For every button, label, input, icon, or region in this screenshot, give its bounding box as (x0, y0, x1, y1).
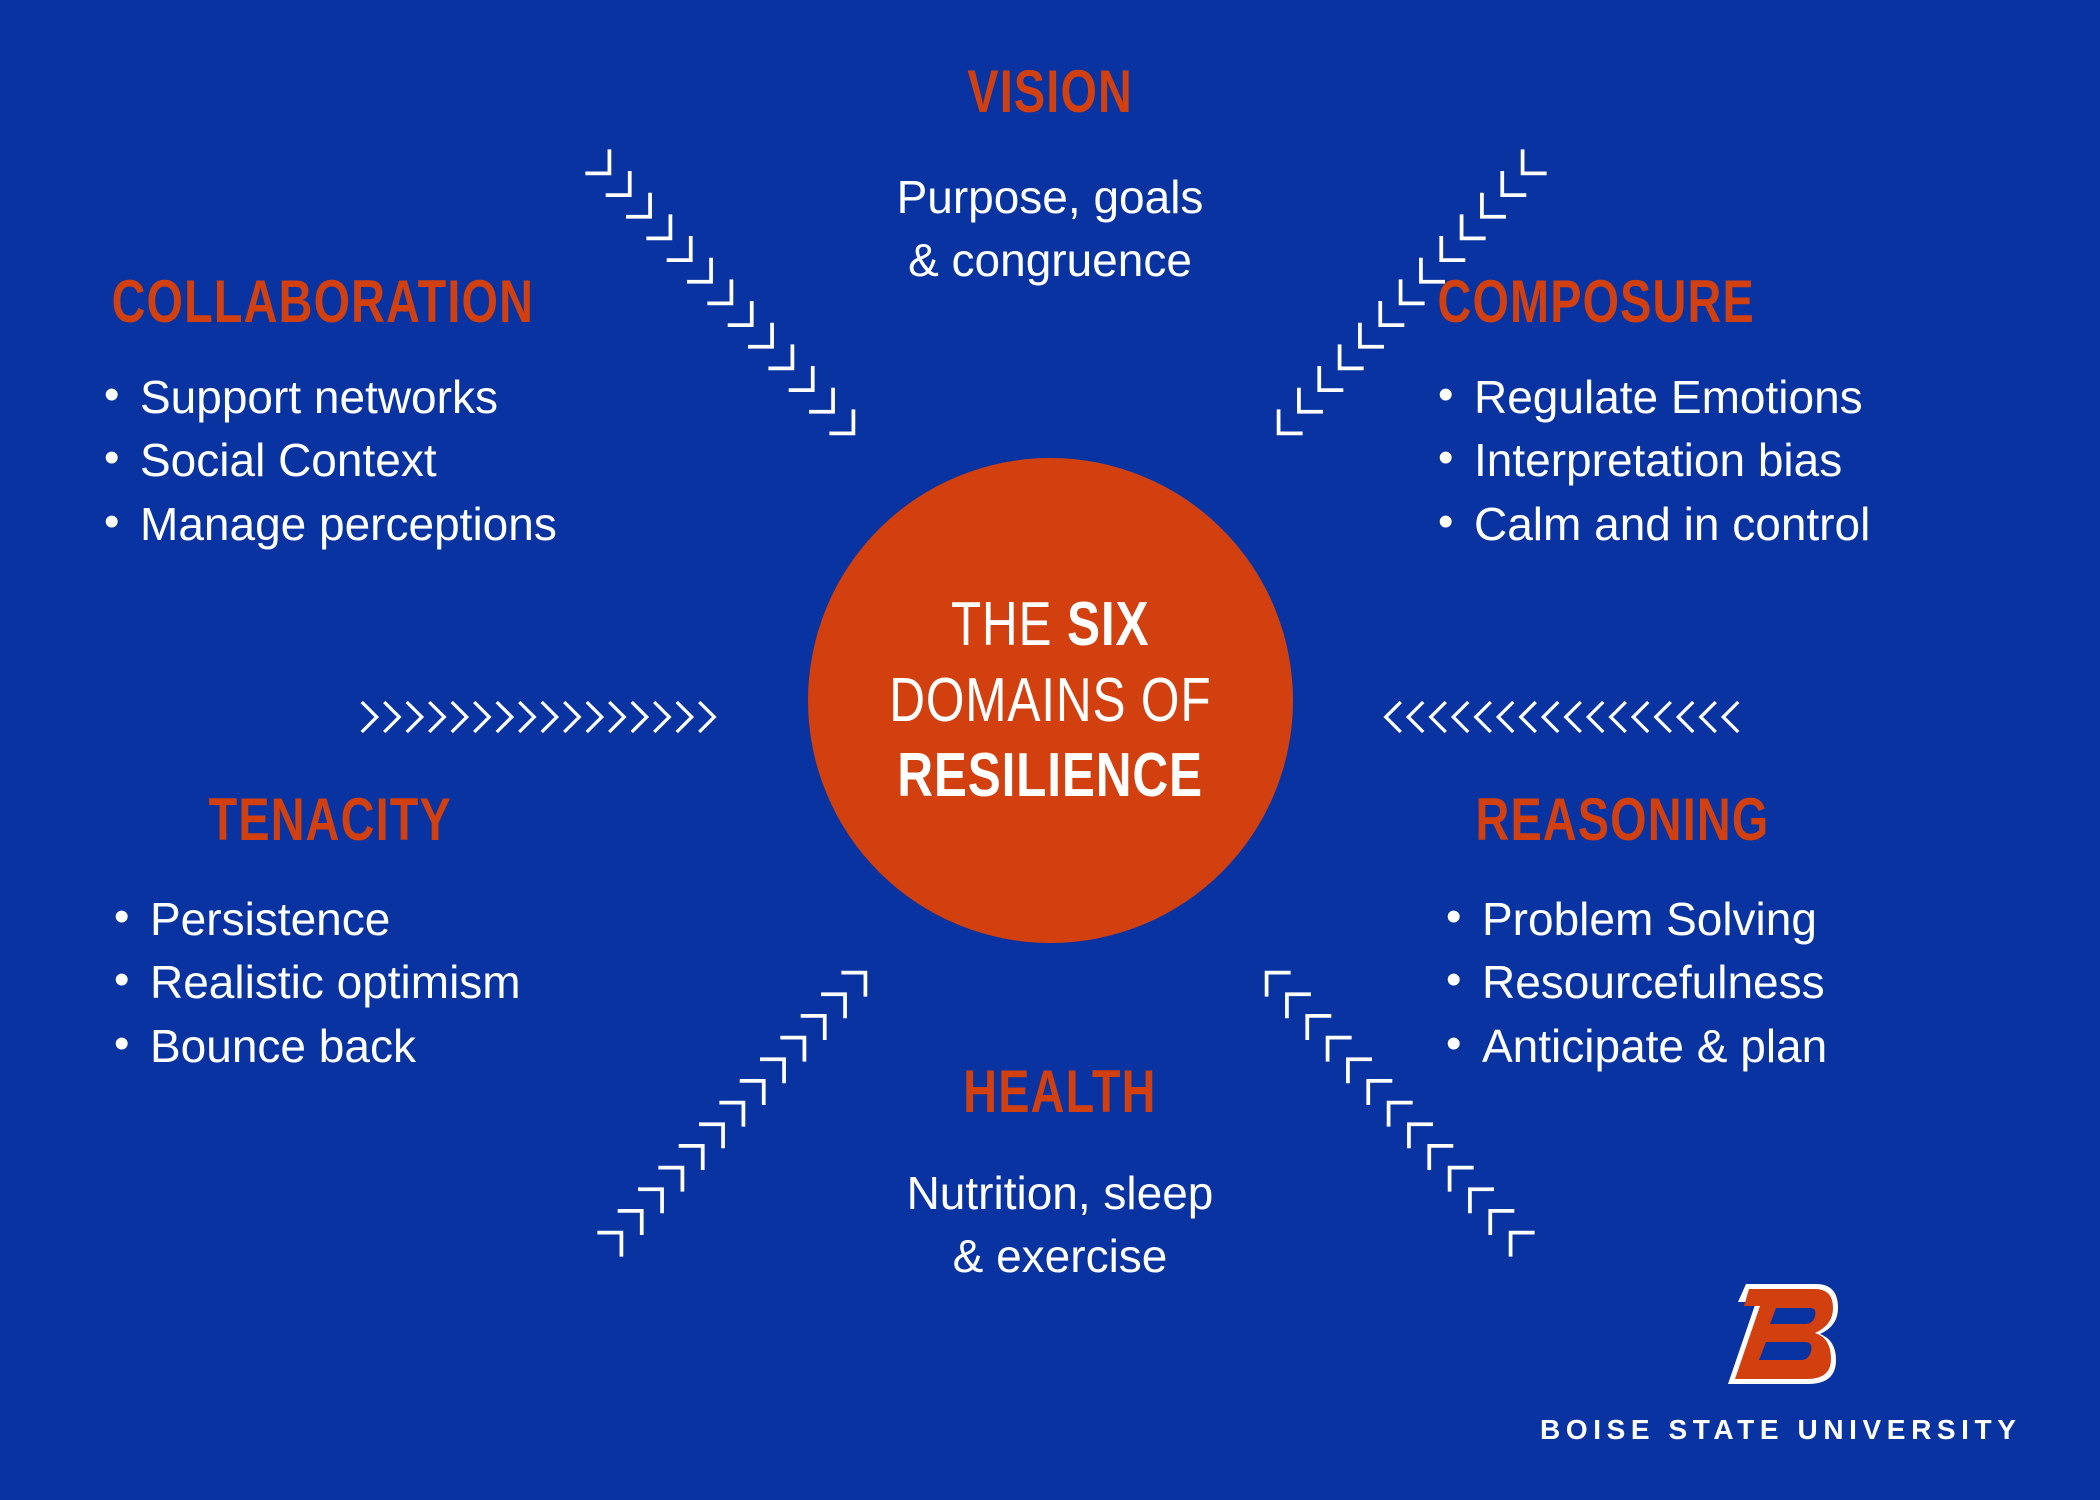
domain-block-collaboration: COLLABORATION Support networks Social Co… (98, 272, 594, 556)
center-line-2: DOMAINS OF (889, 663, 1211, 739)
list-item: Bounce back (108, 1015, 521, 1078)
chevron-trail-top-right-icon (1256, 148, 1546, 448)
chevron-trail-top-left-icon (586, 148, 876, 448)
chevron-trail-right-icon (1382, 682, 1742, 752)
list-item: Calm and in control (1432, 493, 1870, 556)
center-line-1-bold: SIX (1067, 590, 1149, 659)
boise-state-logo: BOISE STATE UNIVERSITY (1540, 1280, 2020, 1446)
center-line-1-prefix: THE (951, 590, 1067, 659)
domain-title-reasoning: REASONING (1475, 790, 1783, 850)
domain-title-health: HEALTH (963, 1062, 1156, 1122)
logo-wordmark: BOISE STATE UNIVERSITY (1540, 1414, 2020, 1446)
domain-bullets-tenacity: Persistence Realistic optimism Bounce ba… (108, 888, 521, 1078)
list-item: Social Context (98, 429, 594, 492)
domain-title-tenacity: TENACITY (209, 790, 482, 850)
list-item: Realistic optimism (108, 951, 521, 1014)
center-line-1: THE SIX (951, 587, 1150, 663)
list-item: Support networks (98, 366, 594, 429)
domain-block-tenacity: TENACITY Persistence Realistic optimism … (108, 790, 521, 1078)
list-item: Manage perceptions (98, 493, 594, 556)
center-line-3: RESILIENCE (898, 738, 1204, 814)
infographic-poster: THE SIX DOMAINS OF RESILIENCE VISION Pur… (0, 0, 2100, 1500)
domain-title-collaboration: COLLABORATION (112, 272, 535, 332)
boise-state-b-mark-icon (1716, 1280, 1844, 1392)
chevron-trail-bottom-left-icon (598, 958, 888, 1258)
domain-bullets-collaboration: Support networks Social Context Manage p… (98, 366, 594, 556)
domain-title-vision: VISION (967, 62, 1133, 122)
center-circle: THE SIX DOMAINS OF RESILIENCE (808, 458, 1293, 943)
chevron-trail-bottom-right-icon (1244, 958, 1534, 1258)
list-item: Problem Solving (1440, 888, 1827, 951)
chevron-trail-left-icon (358, 682, 718, 752)
list-item: Persistence (108, 888, 521, 951)
